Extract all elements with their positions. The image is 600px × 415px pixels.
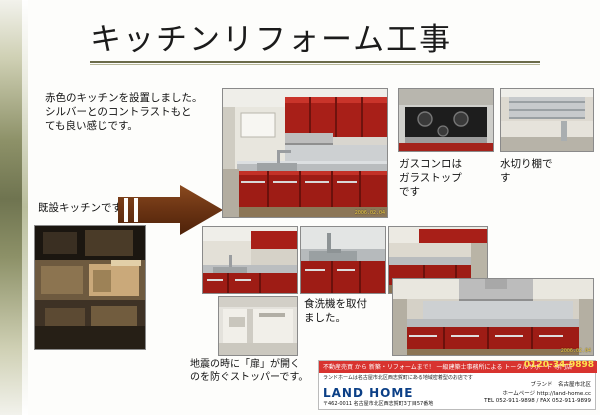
footer-tel: 0120-34-9898 [524, 360, 594, 370]
annotation-dishwasher: 食洗機を取付 ました。 [304, 298, 424, 326]
photo-timestamp: 2006.02.04 [355, 210, 385, 216]
title-underline-light [90, 64, 540, 65]
footer-sub-text: ランドホームは名古屋市北区西志賀町にある地域密着型のお店です [323, 374, 473, 381]
footer-right-line2: ホームページ http://land-home.cc [502, 389, 591, 397]
photo-door-stopper [218, 296, 298, 356]
slide: キッチンリフォーム工事 赤色のキッチンを設置しました。 シルバーとのコントラスト… [0, 0, 600, 415]
photo-timestamp-2: 2006.02.04 [561, 348, 591, 354]
title-underline [90, 61, 540, 63]
photo-main-kitchen: 2006.02.04 [222, 88, 388, 218]
page-title: キッチンリフォーム工事 [90, 14, 560, 59]
photo-existing-kitchen [34, 225, 146, 350]
photo-gas-stove [398, 88, 494, 152]
footer-logo: LAND HOME [323, 386, 414, 400]
annotation-intro: 赤色のキッチンを設置しました。 シルバーとのコントラストもと ても良い感じです。 [45, 92, 220, 134]
photo-partition-shelf [500, 88, 594, 152]
annotation-gas-stove: ガスコンロは ガラストップ です [399, 158, 495, 200]
title-area: キッチンリフォーム工事 [90, 14, 560, 66]
footer-right-line3: TEL 052-911-9898 / FAX 052-911-9899 [484, 398, 591, 404]
photo-kitchen-angle [202, 226, 298, 294]
footer-red-banner: 不動産売買 から 新築・リフォームまで！ 一級建築士事務所による トータルサポー… [319, 361, 597, 373]
annotation-partition-shelf: 水切り棚で す [500, 158, 592, 186]
photo-sink-faucet [300, 226, 386, 294]
footer-right-line1: ブランド 名古屋市北区 [530, 380, 591, 388]
company-footer: 不動産売買 から 新築・リフォームまで！ 一級建築士事務所による トータルサポー… [318, 360, 596, 410]
footer-logo-sub: 〒462-0011 名古屋市北区西志賀町3丁目57番地 [323, 400, 433, 407]
decorative-left-band-highlight [22, 0, 28, 415]
